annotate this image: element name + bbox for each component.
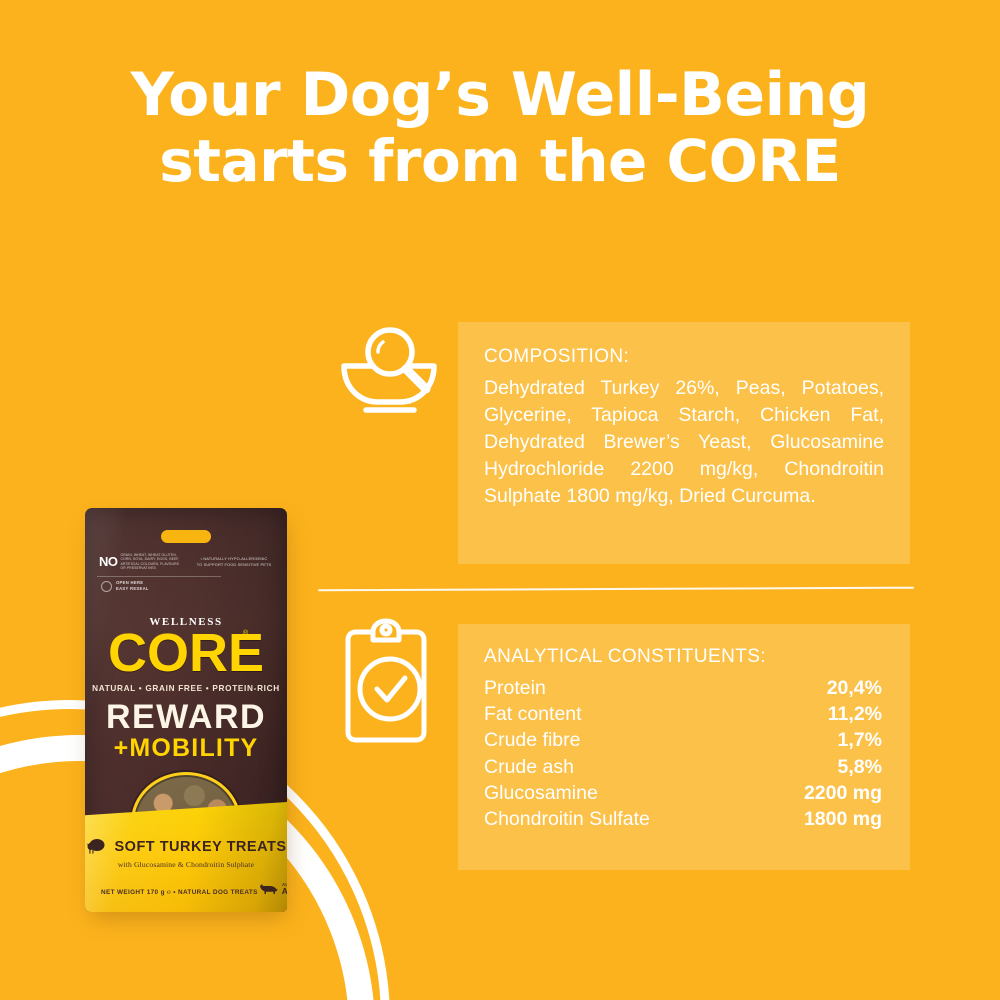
product-package-image: NO GRAIN, WHEAT, WHEAT GLUTEN, CORN, SOY…	[85, 508, 287, 916]
row-label: Crude ash	[484, 754, 755, 780]
dog-icon	[258, 883, 278, 895]
row-value: 2200 mg	[755, 780, 882, 806]
open-here-block: OPEN HERE EASY RESEAL	[101, 580, 149, 593]
row-label: Fat content	[484, 701, 755, 727]
analytical-title: ANALYTICAL CONSTITUENTS:	[484, 646, 882, 668]
composition-title: COMPOSITION:	[484, 346, 884, 368]
bowl-magnifier-icon	[338, 322, 446, 418]
analytical-panel: ANALYTICAL CONSTITUENTS: Protein 20,4% F…	[458, 624, 910, 870]
package-bottom-band: SOFT TURKEY TREATS with Glucosamine & Ch…	[85, 802, 287, 912]
row-value: 5,8%	[755, 754, 882, 780]
hang-hole	[161, 530, 211, 543]
net-weight-text: NET WEIGHT 170 g ℮ • NATURAL DOG TREATS	[101, 889, 258, 896]
lifestage-badge: ALL BREEDS ADULT	[258, 883, 287, 896]
row-label: Glucosamine	[484, 780, 755, 806]
headline-line-2: starts from the CORE	[0, 129, 1000, 194]
row-value: 1,7%	[755, 727, 882, 753]
flavour-row: SOFT TURKEY TREATS	[85, 838, 287, 855]
turkey-icon	[86, 838, 106, 855]
package-claims: NATURAL • GRAIN FREE • PROTEIN-RICH	[92, 684, 280, 693]
flavour-name: SOFT TURKEY TREATS	[115, 839, 287, 855]
hypo-line-1: • NATURALLY HYPO-ALLERGENIC	[193, 556, 275, 562]
open-here-line-2: EASY RESEAL	[116, 586, 149, 592]
row-value: 11,2%	[755, 701, 882, 727]
net-weight-row: NET WEIGHT 170 g ℮ • NATURAL DOG TREATS …	[101, 883, 273, 896]
variant-mobility: +MOBILITY	[114, 736, 259, 761]
hypoallergenic-block: • NATURALLY HYPO-ALLERGENIC TO SUPPORT F…	[193, 556, 275, 567]
open-here-rule	[97, 576, 221, 577]
table-row: Glucosamine 2200 mg	[484, 780, 882, 806]
product-infographic: Your Dog’s Well-Being starts from the CO…	[0, 0, 1000, 1000]
no-ingredients-block: NO GRAIN, WHEAT, WHEAT GLUTEN, CORN, SOY…	[99, 553, 183, 571]
flavour-subtitle: with Glucosamine & Chondroitin Sulphate	[85, 860, 287, 869]
scissors-icon	[101, 581, 112, 592]
table-row: Chondroitin Sulfate 1800 mg	[484, 806, 882, 832]
row-label: Protein	[484, 675, 755, 701]
section-divider	[318, 587, 914, 592]
registered-mark-icon: ®	[243, 630, 248, 637]
page-title: Your Dog’s Well-Being starts from the CO…	[0, 62, 1000, 194]
open-here-text: OPEN HERE EASY RESEAL	[116, 580, 149, 593]
clipboard-check-icon	[340, 616, 440, 748]
badge-adult: ADULT	[282, 887, 287, 896]
hypo-line-2: TO SUPPORT FOOD SENSITIVE PETS	[193, 562, 275, 568]
no-ingredients-list: GRAIN, WHEAT, WHEAT GLUTEN, CORN, SOYA, …	[121, 553, 183, 571]
headline-line-1: Your Dog’s Well-Being	[0, 62, 1000, 129]
analytical-table: Protein 20,4% Fat content 11,2% Crude fi…	[484, 675, 882, 832]
table-row: Fat content 11,2%	[484, 701, 882, 727]
row-label: Crude fibre	[484, 727, 755, 753]
brand-core: CORE	[108, 626, 264, 680]
no-word: NO	[99, 555, 118, 568]
composition-body: Dehydrated Turkey 26%, Peas, Potatoes, G…	[484, 375, 884, 510]
package-body: NO GRAIN, WHEAT, WHEAT GLUTEN, CORN, SOY…	[85, 508, 287, 912]
composition-panel: COMPOSITION: Dehydrated Turkey 26%, Peas…	[458, 322, 910, 564]
table-row: Crude ash 5,8%	[484, 754, 882, 780]
table-row: Protein 20,4%	[484, 675, 882, 701]
row-label: Chondroitin Sulfate	[484, 806, 755, 832]
table-row: Crude fibre 1,7%	[484, 727, 882, 753]
variant-reward: REWARD	[106, 700, 266, 734]
row-value: 20,4%	[755, 675, 882, 701]
row-value: 1800 mg	[755, 806, 882, 832]
